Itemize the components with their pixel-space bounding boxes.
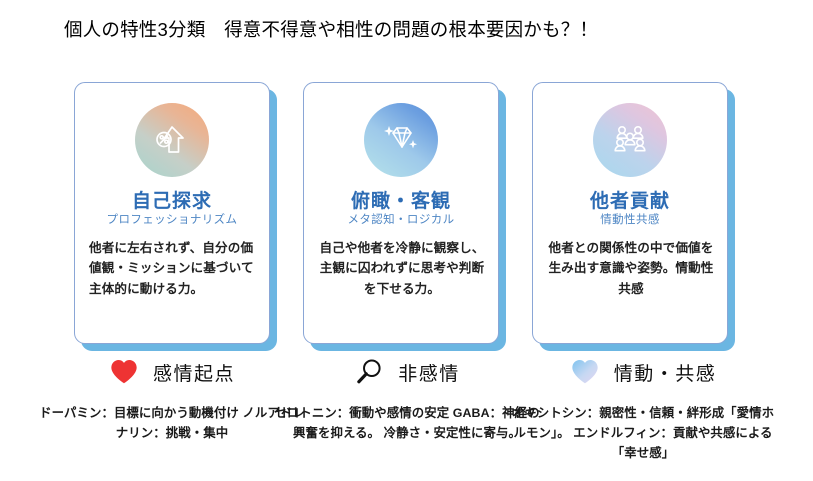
footer-body: オキシトシン：親密性・信頼・絆形成「愛情ホルモン」。 エンドルフィン：貢献や共感… — [508, 403, 778, 463]
footer-label: 非感情 — [398, 359, 460, 386]
card-subtitle: 情動性共感 — [533, 211, 727, 227]
card-title: 自己探求 — [75, 186, 269, 213]
magnifier-icon — [354, 357, 384, 387]
trait-card-objectivity[interactable]: 俯瞰・客観 メタ認知・ロジカル 自己や他者を冷静に観察し、主観に囚われずに思考や… — [303, 82, 499, 344]
card-body: 他者に左右されず、自分の価値観・ミッションに基づいて主体的に動ける力。 — [89, 238, 257, 299]
footer-section-emotional-origin: 感情起点 ドーパミン：目標に向かう動機付け ノルアドレナリン：挑戦・集中 — [37, 352, 307, 443]
cards-row: 自己探求 プロフェッショナリズム 他者に左右されず、自分の価値観・ミッションに基… — [0, 82, 813, 350]
trait-card-self-inquiry[interactable]: 自己探求 プロフェッショナリズム 他者に左右されず、自分の価値観・ミッションに基… — [74, 82, 270, 344]
page-title: 個人の特性3分類 得意不得意や相性の問題の根本要因かも？！ — [64, 16, 598, 42]
footer-label: 情動・共感 — [614, 359, 717, 386]
diamond-sparkle-icon — [364, 103, 438, 177]
card-body: 他者との関係性の中で価値を生み出す意識や姿勢。情動性共感 — [547, 238, 715, 299]
footer-section-empathy: 情動・共感 オキシトシン：親密性・信頼・絆形成「愛情ホルモン」。 エンドルフィン… — [508, 352, 778, 463]
trait-card-contribution[interactable]: 他者貢献 情動性共感 他者との関係性の中で価値を生み出す意識や姿勢。情動性共感 — [532, 82, 728, 344]
footer-head: 情動・共感 — [508, 352, 778, 392]
red-heart-icon — [109, 357, 139, 387]
growth-arrow-percent-icon — [135, 103, 209, 177]
footer-head: 感情起点 — [37, 352, 307, 392]
footer-head: 非感情 — [272, 352, 542, 392]
footer-body: ドーパミン：目標に向かう動機付け ノルアドレナリン：挑戦・集中 — [37, 403, 307, 443]
gradient-heart-icon — [570, 357, 600, 387]
card-title: 俯瞰・客観 — [304, 186, 498, 213]
footer-sections: 感情起点 ドーパミン：目標に向かう動機付け ノルアドレナリン：挑戦・集中 非感情… — [0, 352, 813, 481]
card-subtitle: プロフェッショナリズム — [75, 211, 269, 227]
footer-label: 感情起点 — [153, 359, 235, 386]
people-group-icon — [593, 103, 667, 177]
card-body: 自己や他者を冷静に観察し、主観に囚われずに思考や判断を下せる力。 — [318, 238, 486, 299]
footer-section-non-emotional: 非感情 セロトニン：衝動や感情の安定 GABA：神経の興奮を抑える。 冷静さ・安… — [272, 352, 542, 443]
card-subtitle: メタ認知・ロジカル — [304, 211, 498, 227]
card-title: 他者貢献 — [533, 186, 727, 213]
footer-body: セロトニン：衝動や感情の安定 GABA：神経の興奮を抑える。 冷静さ・安定性に寄… — [272, 403, 542, 443]
